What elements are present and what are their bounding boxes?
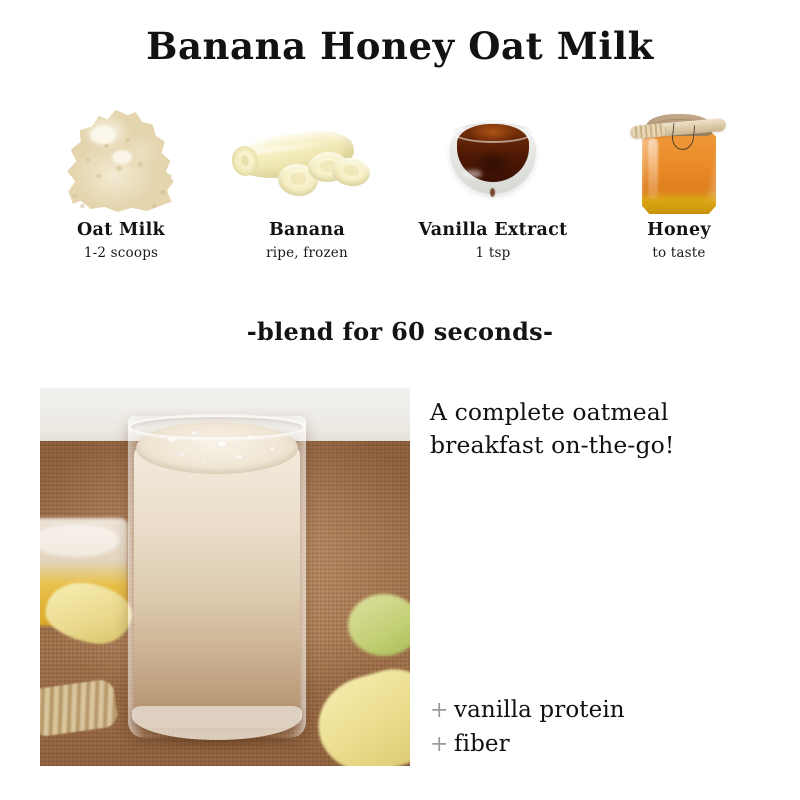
ingredient-quantity: 1-2 scoops	[84, 245, 158, 261]
ingredient-vanilla-extract: Vanilla Extract 1 tsp	[400, 90, 586, 280]
vanilla-extract-bowl-icon	[400, 90, 586, 218]
smoothie-photo	[40, 388, 410, 766]
recipe-infographic: Banana Honey Oat Milk	[0, 0, 800, 800]
ingredient-banana: Banana ripe, frozen	[214, 90, 400, 280]
benefit-label: fiber	[454, 731, 510, 757]
page-title: Banana Honey Oat Milk	[0, 24, 800, 68]
benefits-list: + vanilla protein + fiber	[430, 697, 770, 765]
ingredient-quantity: ripe, frozen	[266, 245, 348, 261]
ingredient-name: Banana	[269, 220, 345, 240]
ingredient-oat-milk: Oat Milk 1-2 scoops	[28, 90, 214, 280]
tagline-line-2: breakfast on-the-go!	[430, 429, 780, 462]
tagline: A complete oatmeal breakfast on-the-go!	[430, 396, 780, 463]
ingredient-honey: Honey to taste	[586, 90, 772, 280]
plus-icon: +	[430, 698, 454, 723]
benefit-label: vanilla protein	[454, 697, 625, 723]
benefit-item: + vanilla protein	[430, 697, 770, 723]
tagline-line-1: A complete oatmeal	[430, 396, 780, 429]
banana-icon	[214, 90, 400, 218]
ingredient-quantity: to taste	[652, 245, 705, 261]
ingredient-name: Vanilla Extract	[418, 220, 567, 240]
ingredient-name: Oat Milk	[77, 220, 165, 240]
plus-icon: +	[430, 732, 454, 757]
honey-jar-icon	[586, 90, 772, 218]
oat-milk-powder-icon	[28, 90, 214, 218]
ingredient-name: Honey	[647, 220, 711, 240]
ingredient-quantity: 1 tsp	[476, 245, 511, 261]
blend-instruction: -blend for 60 seconds-	[0, 317, 800, 346]
ingredient-row: Oat Milk 1-2 scoops Banana ripe, frozen	[28, 90, 772, 280]
benefit-item: + fiber	[430, 731, 770, 757]
